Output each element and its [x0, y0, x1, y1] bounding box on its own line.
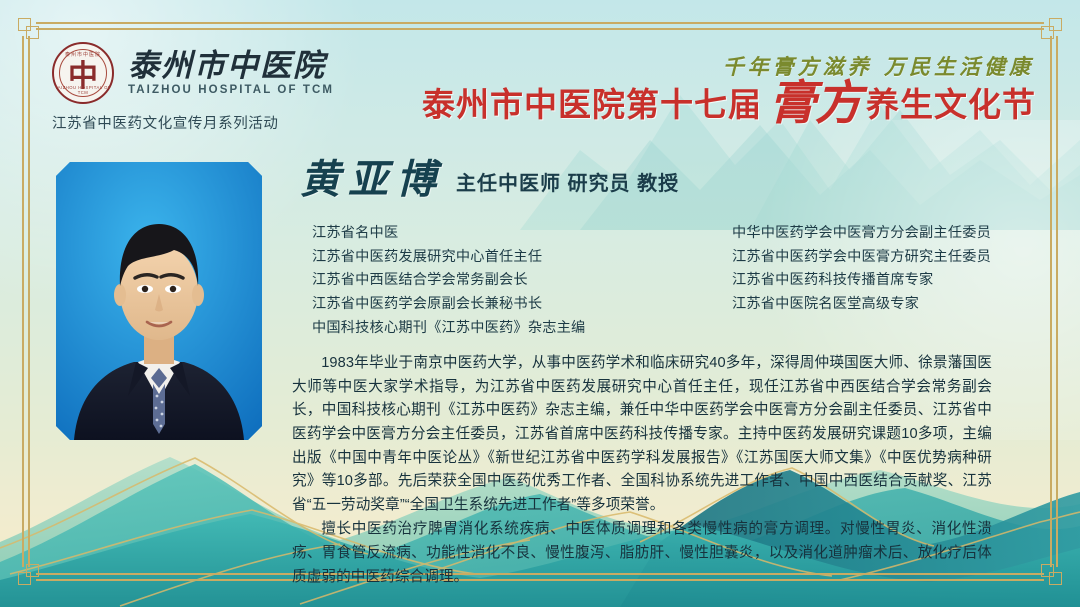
hospital-name-cn: 泰州市中医院: [128, 51, 334, 82]
credentials-column-right: 中华中医药学会中医膏方分会副主任委员 江苏省中医药学会中医膏方研究主任委员 江苏…: [732, 224, 991, 338]
doctor-portrait-photo: [56, 162, 262, 440]
poster-canvas: 泰州市中医院 中 TAIZHOU HOSPITAL OF TCM 泰州市中医院 …: [0, 0, 1080, 607]
festival-title-part1: 泰州市中医院第十七届: [422, 88, 762, 123]
hospital-name-en: TAIZHOU HOSPITAL OF TCM: [128, 84, 334, 96]
festival-title-part2: 养生文化节: [866, 88, 1036, 123]
festival-title-brush: 膏方: [769, 83, 861, 125]
credential-item: 中国科技核心期刊《江苏中医药》杂志主编: [312, 319, 696, 338]
credential-item: 中华中医药学会中医膏方分会副主任委员: [732, 224, 991, 243]
frame-corner-bottom-left: [18, 563, 40, 585]
doctor-name: 黄亚博: [300, 160, 444, 200]
credential-item: 江苏省名中医: [312, 224, 696, 243]
hospital-branding: 泰州市中医院 中 TAIZHOU HOSPITAL OF TCM 泰州市中医院 …: [52, 42, 334, 133]
frame-corner-top-left: [18, 18, 40, 40]
credential-item: 江苏省中医药发展研究中心首任主任: [312, 248, 696, 267]
festival-title-block: 千年膏方滋养 万民生活健康 泰州市中医院第十七届 膏方 养生文化节: [422, 56, 1036, 122]
doctor-biography: 1983年毕业于南京中医药大学，从事中医药学术和临床研究40多年，深得周仲瑛国医…: [292, 352, 992, 590]
credentials-column-left: 江苏省名中医 江苏省中医药发展研究中心首任主任 江苏省中西医结合学会常务副会长 …: [312, 224, 696, 338]
frame-corner-bottom-right: [1040, 563, 1062, 585]
doctor-name-row: 黄亚博 主任中医师 研究员 教授: [300, 160, 679, 200]
credential-item: 江苏省中医药学会中医膏方研究主任委员: [732, 248, 991, 267]
biography-paragraph: 1983年毕业于南京中医药大学，从事中医药学术和临床研究40多年，深得周仲瑛国医…: [292, 352, 992, 517]
hospital-seal-logo: 泰州市中医院 中 TAIZHOU HOSPITAL OF TCM: [52, 42, 114, 104]
doctor-professional-title: 主任中医师 研究员 教授: [456, 167, 679, 200]
festival-slogan: 千年膏方滋养 万民生活健康: [422, 56, 1034, 77]
credential-item: 江苏省中医药学会原副会长兼秘书长: [312, 295, 696, 314]
credential-item: 江苏省中医院名医堂高级专家: [732, 295, 991, 314]
activity-subtitle: 江苏省中医药文化宣传月系列活动: [52, 112, 334, 133]
biography-paragraph: 擅长中医药治疗脾胃消化系统疾病、中医体质调理和各类慢性病的膏方调理。对慢性胃炎、…: [292, 518, 992, 589]
doctor-credentials: 江苏省名中医 江苏省中医药发展研究中心首任主任 江苏省中西医结合学会常务副会长 …: [312, 224, 1024, 338]
credential-item: 江苏省中西医结合学会常务副会长: [312, 271, 696, 290]
credential-item: 江苏省中医药科技传播首席专家: [732, 271, 991, 290]
frame-corner-top-right: [1040, 18, 1062, 40]
seal-arc-bottom-text: TAIZHOU HOSPITAL OF TCM: [54, 85, 112, 95]
